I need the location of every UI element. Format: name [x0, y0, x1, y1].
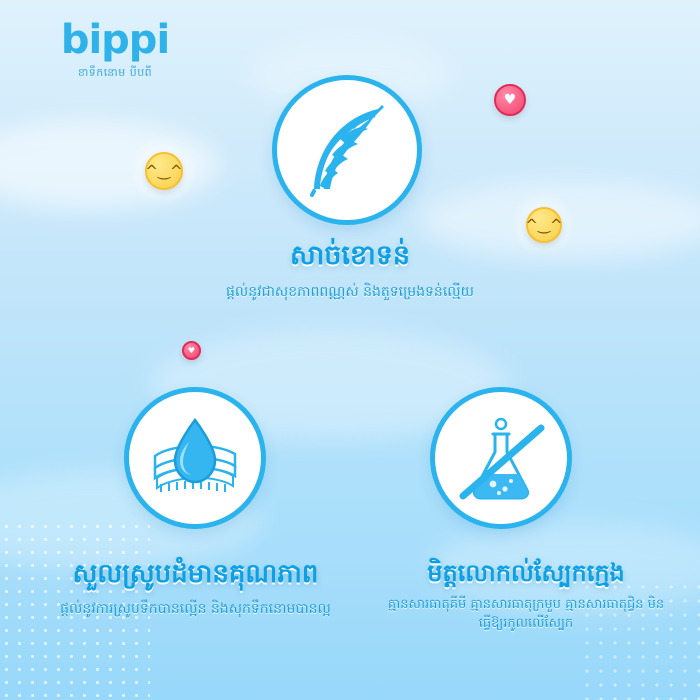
- feature-description: ផ្តល់នូវការស្រូបទឹកបានល្អើន និងសុកទឹកនោម…: [18, 599, 373, 619]
- smiley-sticker: ^‿^: [145, 152, 183, 190]
- feature-text-skin-friendly: មិត្តលោកល់ស្បែកក្មេង គ្មានសារធាតុគីមី គ្…: [356, 558, 696, 634]
- feature-title: មិត្តលោកល់ស្បែកក្មេង: [356, 558, 696, 589]
- no-chemicals-flask-icon: [447, 404, 555, 512]
- feature-description: គ្មានសារធាតុគីមី គ្មានសារធាតុក្រមួប គ្មា…: [356, 596, 696, 634]
- brand-logo-text: bippi: [30, 20, 200, 60]
- heart-sticker: ♥: [182, 341, 201, 360]
- smiley-sticker: ^‿^: [526, 207, 562, 243]
- feature-text-absorbent-core: សួលស្រូបដំមានគុណភាព ផ្តល់នូវការស្រូបទឹកប…: [18, 558, 373, 619]
- cloud-decoration: [0, 120, 220, 210]
- heart-sticker: ♥: [494, 84, 526, 116]
- feature-title: សាច់ខោទន់: [130, 238, 570, 273]
- brand-logo-subtitle: ខាទឹកនោម បីបពី: [30, 66, 200, 82]
- poster-root: bippi ខាទឹកនោម បីបពី: [0, 0, 700, 700]
- brand-logo: bippi ខាទឹកនោម បីបពី: [30, 20, 200, 82]
- feature-text-soft-surface: សាច់ខោទន់ ផ្តល់នូវជាសុខភាពពណ្ណស់ និងតួទម…: [130, 238, 570, 302]
- feature-title: សួលស្រូបដំមានគុណភាព: [18, 558, 373, 592]
- feature-icon-circle-skin-friendly: [430, 387, 572, 529]
- feature-icon-circle-absorbent-core: [124, 387, 266, 529]
- feature-description: ផ្តល់នូវជាសុខភាពពណ្ណស់ និងតួទម្រេងទន់ល្ម…: [130, 282, 570, 302]
- feature-icon-circle-soft-surface: [272, 75, 422, 225]
- water-drop-absorb-icon: [141, 404, 249, 512]
- feather-icon: [292, 95, 402, 205]
